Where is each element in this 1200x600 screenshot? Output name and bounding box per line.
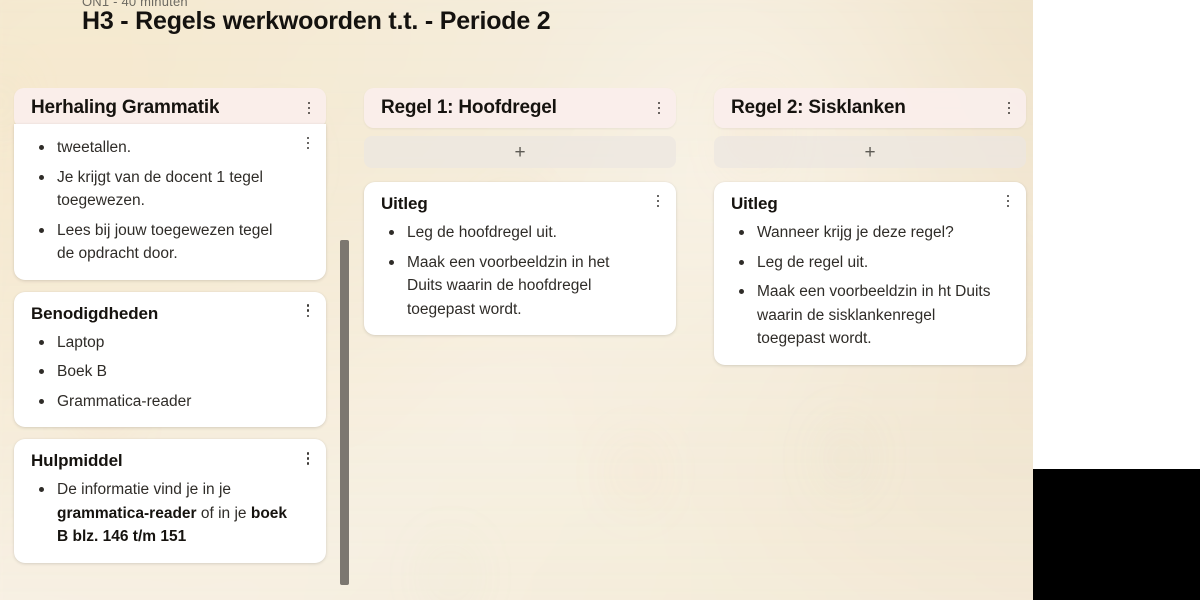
card-bullet-list: tweetallen.Je krijgt van de docent 1 teg…: [31, 136, 292, 266]
card-bullet-list: Leg de hoofdregel uit.Maak een voorbeeld…: [381, 221, 642, 321]
right-side-panel: [1033, 0, 1200, 466]
card-bullet-item: Boek B: [31, 360, 292, 384]
board-card[interactable]: HulpmiddelDe informatie vind je in je gr…: [14, 439, 326, 563]
card-stack: UitlegLeg de hoofdregel uit.Maak een voo…: [364, 182, 676, 335]
card-bullet-item: Maak een voorbeeldzin in ht Duits waarin…: [731, 280, 992, 351]
card-title: Hulpmiddel: [31, 451, 292, 471]
card-bullet-strong: grammatica-reader: [57, 505, 197, 522]
card-menu-icon[interactable]: [301, 134, 315, 152]
card-stack: UitlegWanneer krijg je deze regel?Leg de…: [714, 182, 1026, 365]
column-menu-icon[interactable]: [1002, 99, 1016, 117]
column-header[interactable]: Herhaling Grammatik: [14, 88, 326, 128]
add-card-button[interactable]: +: [364, 136, 676, 168]
board-card[interactable]: UitlegWanneer krijg je deze regel?Leg de…: [714, 182, 1026, 365]
card-bullet-item: Laptop: [31, 331, 292, 355]
app-root: ON1 - 40 minuten H3 - Regels werkwoorden…: [0, 0, 1200, 600]
card-menu-icon[interactable]: [651, 192, 665, 210]
add-card-button[interactable]: +: [714, 136, 1026, 168]
card-bullet-item: Maak een voorbeeldzin in het Duits waari…: [381, 251, 642, 322]
column-title: Herhaling Grammatik: [31, 97, 219, 119]
card-bullet-item: Je krijgt van de docent 1 tegel toegewez…: [31, 166, 292, 213]
vertical-scrollbar-thumb[interactable]: [340, 240, 349, 585]
column-title: Regel 2: Sisklanken: [731, 97, 906, 119]
column-header[interactable]: Regel 1: Hoofdregel: [364, 88, 676, 128]
board-columns: Herhaling Grammatik+tweetallen.Je krijgt…: [0, 88, 1033, 600]
plus-icon: +: [864, 143, 875, 162]
board-card[interactable]: UitlegLeg de hoofdregel uit.Maak een voo…: [364, 182, 676, 335]
card-bullet-item: Wanneer krijg je deze regel?: [731, 221, 992, 245]
card-bullet-list: LaptopBoek BGrammatica-reader: [31, 331, 292, 414]
column-menu-icon[interactable]: [652, 99, 666, 117]
card-title: Uitleg: [381, 194, 642, 214]
card-bullet-list: Wanneer krijg je deze regel?Leg de regel…: [731, 221, 992, 351]
page-title: H3 - Regels werkwoorden t.t. - Periode 2: [82, 7, 551, 36]
card-bullet-list: De informatie vind je in je grammatica-r…: [31, 478, 292, 549]
column-title: Regel 1: Hoofdregel: [381, 97, 557, 119]
card-bullet-item: Lees bij jouw toegewezen tegel de opdrac…: [31, 219, 292, 266]
board-column: Regel 2: Sisklanken+UitlegWanneer krijg …: [714, 88, 1026, 377]
bottom-right-panel: [1033, 466, 1200, 600]
card-bullet-item: De informatie vind je in je grammatica-r…: [31, 478, 292, 549]
card-title: Benodigdheden: [31, 304, 292, 324]
plus-icon: +: [514, 143, 525, 162]
card-bullet-item: tweetallen.: [31, 136, 292, 160]
card-stack: tweetallen.Je krijgt van de docent 1 teg…: [14, 124, 326, 563]
card-bullet-item: Grammatica-reader: [31, 390, 292, 414]
card-menu-icon[interactable]: [1001, 192, 1015, 210]
card-bullet-item: Leg de regel uit.: [731, 251, 992, 275]
card-menu-icon[interactable]: [301, 302, 315, 320]
board-card[interactable]: BenodigdhedenLaptopBoek BGrammatica-read…: [14, 292, 326, 428]
card-title: Uitleg: [731, 194, 992, 214]
card-menu-icon[interactable]: [301, 449, 315, 467]
board-card[interactable]: tweetallen.Je krijgt van de docent 1 teg…: [14, 124, 326, 280]
board-column: Regel 1: Hoofdregel+UitlegLeg de hoofdre…: [364, 88, 676, 347]
board-column: Herhaling Grammatik+tweetallen.Je krijgt…: [14, 88, 326, 575]
column-menu-icon[interactable]: [302, 99, 316, 117]
column-header[interactable]: Regel 2: Sisklanken: [714, 88, 1026, 128]
card-bullet-text: of in je: [197, 505, 251, 522]
card-bullet-item: Leg de hoofdregel uit.: [381, 221, 642, 245]
card-bullet-text: De informatie vind je in je: [57, 481, 231, 498]
